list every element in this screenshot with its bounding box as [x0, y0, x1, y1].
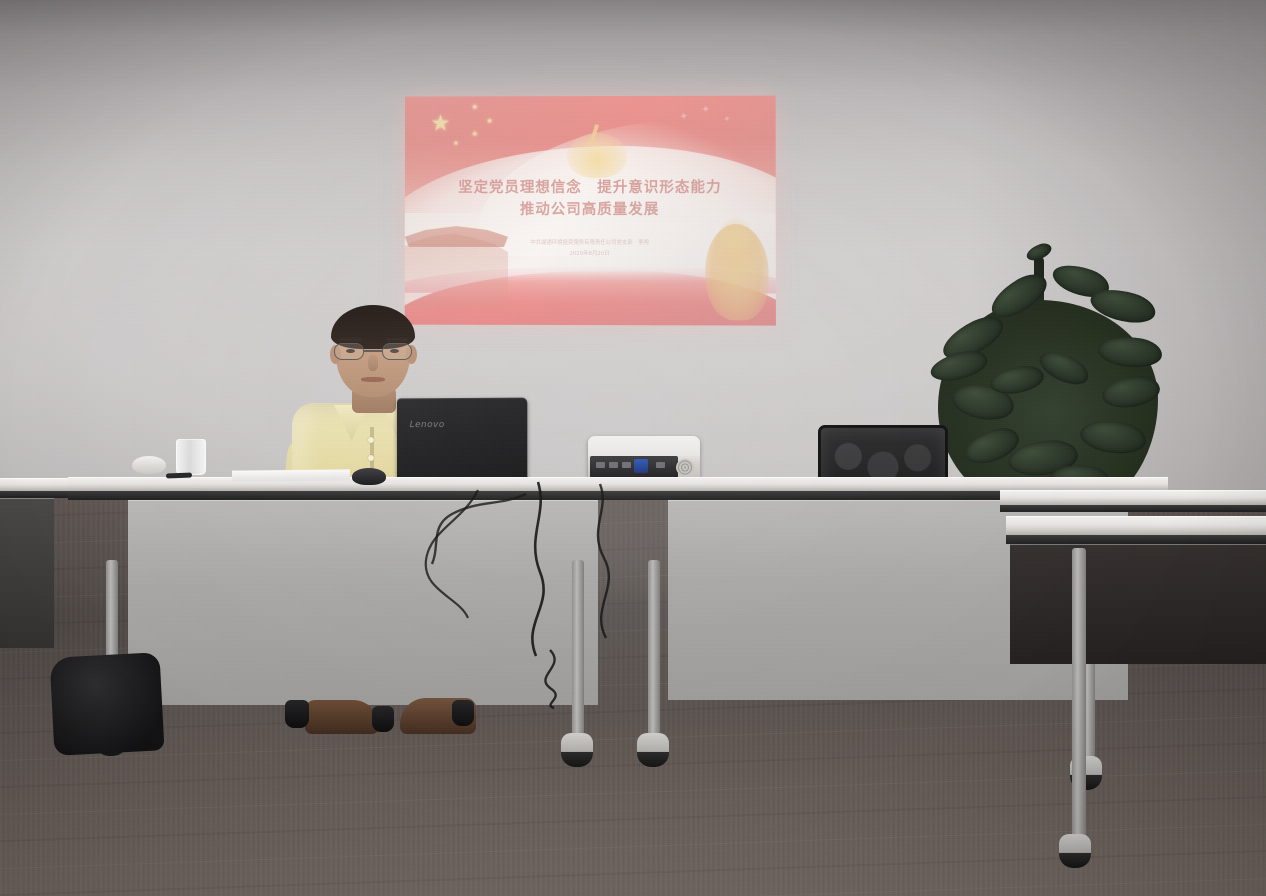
eyeglass-lens-left: [334, 343, 364, 360]
desk-leg: [572, 560, 584, 735]
main-desk-modesty-panel-left: [128, 500, 598, 705]
lenovo-laptop[interactable]: Lenovo: [397, 398, 527, 485]
projector-port-panel: [590, 456, 678, 478]
left-side-table-panel: [0, 498, 54, 648]
desk-projector[interactable]: [588, 436, 700, 480]
computer-mouse[interactable]: [352, 468, 386, 485]
lenovo-brand-label: Lenovo: [410, 420, 445, 430]
desk-caster: [561, 733, 593, 767]
projector-port: [596, 462, 605, 468]
presenter-chair-caster: [372, 706, 394, 732]
desk-leg: [648, 560, 660, 735]
white-mouse-object[interactable]: [132, 456, 166, 474]
right-table-top-lower: [1006, 516, 1266, 535]
presenter-nose: [368, 355, 378, 371]
projector-port: [656, 462, 665, 468]
eyeglass-bridge: [364, 350, 382, 352]
right-table-top-upper: [1000, 490, 1266, 505]
polo-button: [368, 437, 374, 443]
paper-documents[interactable]: [232, 469, 350, 481]
right-table-panel: [1010, 544, 1266, 664]
right-table-caster: [1059, 834, 1091, 868]
projector-port: [609, 462, 618, 468]
meeting-room-photo: ★ ★ ★ ★ ★ ✦ ✦ ✦ 坚定党员理想信念 提升意识形态能力 推动公司高质…: [0, 0, 1266, 896]
eyeglass-lens-right: [382, 343, 412, 360]
presenter-mouth: [361, 377, 385, 382]
polo-button: [368, 455, 374, 461]
projector-port: [622, 462, 631, 468]
desk-caster: [637, 733, 669, 767]
presenter-eyebrow: [386, 338, 408, 341]
projection-dim-overlay: [405, 96, 776, 326]
right-table-edge-lower: [1006, 535, 1266, 544]
black-bag[interactable]: [50, 652, 165, 756]
projected-presentation-slide: ★ ★ ★ ★ ★ ✦ ✦ ✦ 坚定党员理想信念 提升意识形态能力 推动公司高质…: [405, 96, 776, 326]
presenter-chair-caster: [452, 700, 474, 726]
pen[interactable]: [166, 473, 192, 479]
projector-speaker-vent: [676, 459, 694, 476]
presenter-shoe-left: [305, 700, 379, 734]
right-table-leg: [1072, 548, 1086, 838]
right-table-edge-upper: [1000, 505, 1266, 512]
presenter-eyebrow: [340, 338, 362, 341]
presenter-chair-caster: [285, 700, 309, 728]
projector-vga-connector: [634, 459, 648, 473]
water-cup[interactable]: [176, 439, 206, 475]
